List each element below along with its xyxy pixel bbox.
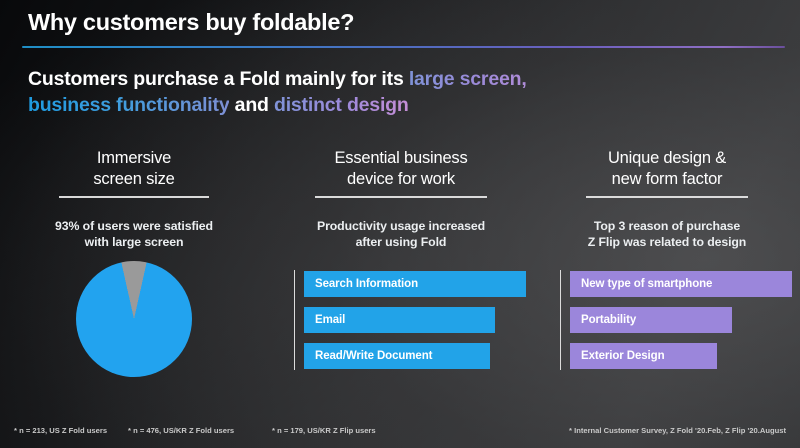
bar-row: Search Information <box>304 270 526 298</box>
title-divider <box>22 46 785 48</box>
bar-read-write-document: Read/Write Document <box>304 343 490 369</box>
subtitle-accent-business-functionality: business functionality <box>28 94 229 116</box>
column-1-caption: 93% of users were satisfied with large s… <box>0 218 268 250</box>
column-1-heading-underline <box>59 196 209 198</box>
pie-chart-wrapper <box>0 261 268 377</box>
subtitle-accent-distinct-design: distinct design <box>274 94 409 116</box>
pie-chart-satisfaction <box>76 261 192 377</box>
footnotes: * n = 213, US Z Fold users * n = 476, US… <box>0 426 800 442</box>
columns-container: Immersive screen size 93% of users were … <box>0 146 800 404</box>
column-3-caption: Top 3 reason of purchase Z Flip was rela… <box>534 218 800 250</box>
column-3-caption-line1: Top 3 reason of purchase <box>534 218 800 234</box>
bar-chart-purchase-reasons: New type of smartphone Portability Exter… <box>560 270 792 370</box>
bar-row: New type of smartphone <box>570 270 792 298</box>
column-2-caption-line2: after using Fold <box>268 234 534 250</box>
bar-new-type-of-smartphone: New type of smartphone <box>570 271 792 297</box>
column-2-heading-underline <box>315 196 487 198</box>
bar-row: Portability <box>570 306 792 334</box>
column-3-heading: Unique design & new form factor <box>534 146 800 198</box>
column-essential-business-device: Essential business device for work Produ… <box>268 146 534 404</box>
bar-chart-productivity: Search Information Email Read/Write Docu… <box>294 270 526 370</box>
column-3-heading-underline <box>586 196 748 198</box>
page-title: Why customers buy foldable? <box>28 9 354 36</box>
column-3-caption-line2: Z Flip was related to design <box>534 234 800 250</box>
column-1-caption-line2: with large screen <box>0 234 268 250</box>
column-3-heading-line2: new form factor <box>534 169 800 190</box>
slide-canvas: Why customers buy foldable? Customers pu… <box>0 0 800 448</box>
column-1-heading-line2: screen size <box>0 169 268 190</box>
bar-portability: Portability <box>570 307 732 333</box>
column-3-heading-line1: Unique design & <box>534 148 800 169</box>
footnote-n-213: * n = 213, US Z Fold users <box>14 426 107 435</box>
subtitle-text-plain-1: Customers purchase a Fold mainly for its <box>28 68 409 90</box>
column-1-caption-line1: 93% of users were satisfied <box>0 218 268 234</box>
subtitle-text-plain-2: and <box>229 94 274 116</box>
bar-row: Email <box>304 306 526 334</box>
column-2-heading-line1: Essential business <box>268 148 534 169</box>
column-1-heading: Immersive screen size <box>0 146 268 198</box>
footnote-n-476: * n = 476, US/KR Z Fold users <box>128 426 234 435</box>
footnote-source: * Internal Customer Survey, Z Fold '20.F… <box>569 426 786 435</box>
column-2-caption-line1: Productivity usage increased <box>268 218 534 234</box>
bar-row: Read/Write Document <box>304 342 526 370</box>
footnote-n-179: * n = 179, US/KR Z Flip users <box>272 426 376 435</box>
bar-row: Exterior Design <box>570 342 792 370</box>
bar-email: Email <box>304 307 495 333</box>
column-2-heading-line2: device for work <box>268 169 534 190</box>
column-2-heading: Essential business device for work <box>268 146 534 198</box>
column-1-heading-line1: Immersive <box>0 148 268 169</box>
bar-search-information: Search Information <box>304 271 526 297</box>
subtitle-accent-large-screen: large screen, <box>409 68 527 90</box>
column-2-caption: Productivity usage increased after using… <box>268 218 534 250</box>
bar-exterior-design: Exterior Design <box>570 343 717 369</box>
subtitle: Customers purchase a Fold mainly for its… <box>28 66 768 118</box>
column-unique-design: Unique design & new form factor Top 3 re… <box>534 146 800 404</box>
column-immersive-screen-size: Immersive screen size 93% of users were … <box>0 146 268 404</box>
